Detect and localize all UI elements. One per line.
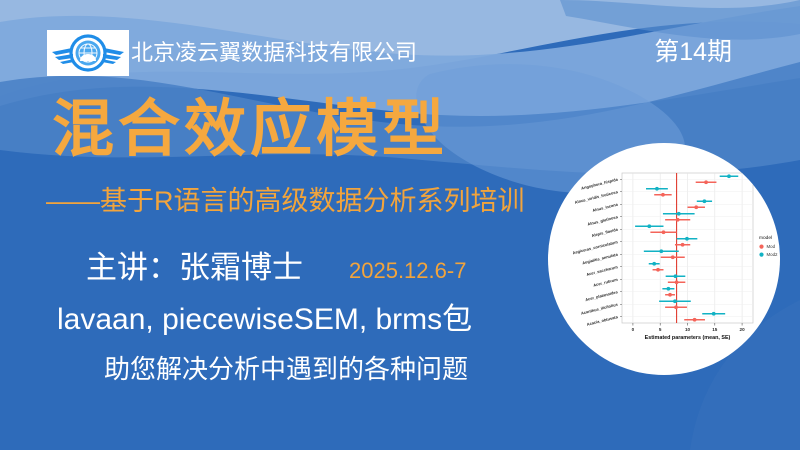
x-axis-tick-label: 10 — [685, 327, 691, 332]
issue-badge: 第14期 — [654, 40, 732, 65]
data-point — [652, 262, 656, 266]
legend-swatch — [759, 245, 763, 249]
data-point — [676, 218, 680, 222]
data-point — [661, 193, 665, 197]
brand-header: 北京凌云翼数据科技有限公司 — [47, 30, 417, 76]
x-axis-tick-label: 5 — [659, 327, 662, 332]
data-point — [677, 212, 681, 216]
data-point — [673, 299, 677, 303]
main-title: 混合效应模型 — [52, 96, 448, 164]
company-logo — [47, 30, 129, 76]
subtitle: ——基于R语言的高级数据分析系列培训 — [46, 188, 525, 215]
y-axis-tick-label: Acacia_obtusata — [586, 314, 619, 327]
data-point — [727, 174, 731, 178]
forest-plot-chart: Angophora_hispidaAlnus_viridis_fruticosa… — [548, 143, 780, 375]
y-axis-tick-label: Alnus_glutinosa — [587, 214, 619, 227]
packages-line: lavaan, piecewiseSEM, brms包 — [57, 305, 472, 335]
data-point — [712, 312, 716, 316]
y-axis-tick-label: Angophora_hispida — [581, 177, 619, 191]
data-point — [671, 255, 675, 259]
speaker-row: 主讲：张霜博士 2025.12.6-7 — [86, 252, 466, 283]
data-point — [647, 224, 651, 228]
data-point — [662, 230, 666, 234]
legend-title: model — [759, 235, 772, 241]
tagline: 助您解决分析中遇到的各种问题 — [104, 356, 468, 382]
data-point — [703, 199, 707, 203]
data-point — [674, 305, 678, 309]
data-point — [659, 249, 663, 253]
legend-swatch — [759, 253, 763, 257]
y-axis-tick-label: Alepis_flavida — [591, 227, 619, 239]
data-point — [666, 287, 670, 291]
event-date: 2025.12.6-7 — [349, 260, 466, 282]
y-axis-tick-label: Acer_platanoides — [585, 289, 619, 302]
data-point — [655, 187, 659, 191]
x-axis-label: Estimated parameters (mean, SE) — [645, 335, 731, 341]
chart-medallion: Angophora_hispidaAlnus_viridis_fruticosa… — [548, 143, 780, 375]
poster-canvas: 北京凌云翼数据科技有限公司 第14期 混合效应模型 ——基于R语言的高级数据分析… — [0, 0, 800, 450]
data-point — [674, 274, 678, 278]
x-axis-tick-label: 20 — [740, 327, 746, 332]
winged-globe-logo-icon — [50, 33, 126, 73]
legend-label: Mod — [767, 244, 776, 249]
data-point — [656, 268, 660, 272]
legend-label: Mod2 — [767, 252, 779, 257]
y-axis-tick-label: Acer_rubrum — [593, 277, 619, 288]
data-point — [681, 243, 685, 247]
y-axis-tick-label: Acanthus_ilicifolius — [580, 302, 619, 316]
data-point — [675, 280, 679, 284]
data-point — [685, 237, 689, 241]
data-point — [693, 318, 697, 322]
data-point — [694, 205, 698, 209]
y-axis-tick-label: Alnus_incana — [592, 202, 619, 213]
company-name: 北京凌云翼数据科技有限公司 — [131, 42, 417, 64]
data-point — [704, 180, 708, 184]
y-axis-tick-label: Aegialitis_annulata — [582, 252, 619, 266]
x-axis-tick-label: 0 — [632, 327, 635, 332]
x-axis-tick-label: 15 — [712, 327, 718, 332]
data-point — [668, 293, 672, 297]
y-axis-tick-label: Acer_saccharum — [586, 264, 619, 277]
speaker-name: 主讲：张霜博士 — [86, 252, 303, 283]
